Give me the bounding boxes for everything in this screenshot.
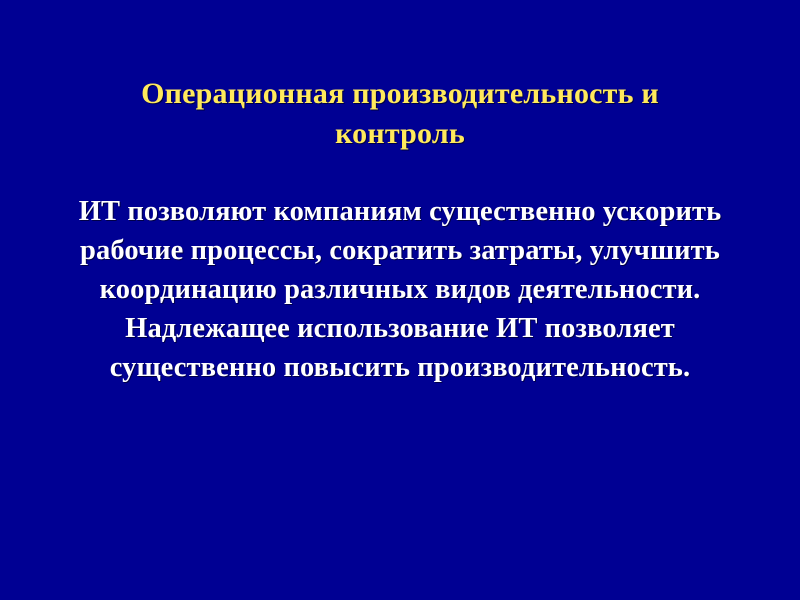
slide-title-line-2: контроль [76, 114, 724, 154]
slide-body-line-1: ИТ позволяют компаниям существенно ускор… [54, 192, 746, 231]
slide-body-text: ИТ позволяют компаниям существенно ускор… [54, 192, 746, 387]
slide-body-line-2: рабочие процессы, сократить затраты, улу… [54, 231, 746, 270]
slide-empty-lower-area [0, 400, 800, 600]
slide-content-area: Операционная производительность и контро… [0, 0, 800, 600]
slide-title: Операционная производительность и контро… [76, 74, 724, 154]
slide-body-line-4: Надлежащее использование ИТ позволяет [54, 309, 746, 348]
slide-title-line-1: Операционная производительность и [76, 74, 724, 114]
presentation-slide: Операционная производительность и контро… [0, 0, 800, 600]
slide-body-line-5: существенно повысить производительность. [54, 348, 746, 387]
slide-body-line-3: координацию различных видов деятельности… [54, 270, 746, 309]
